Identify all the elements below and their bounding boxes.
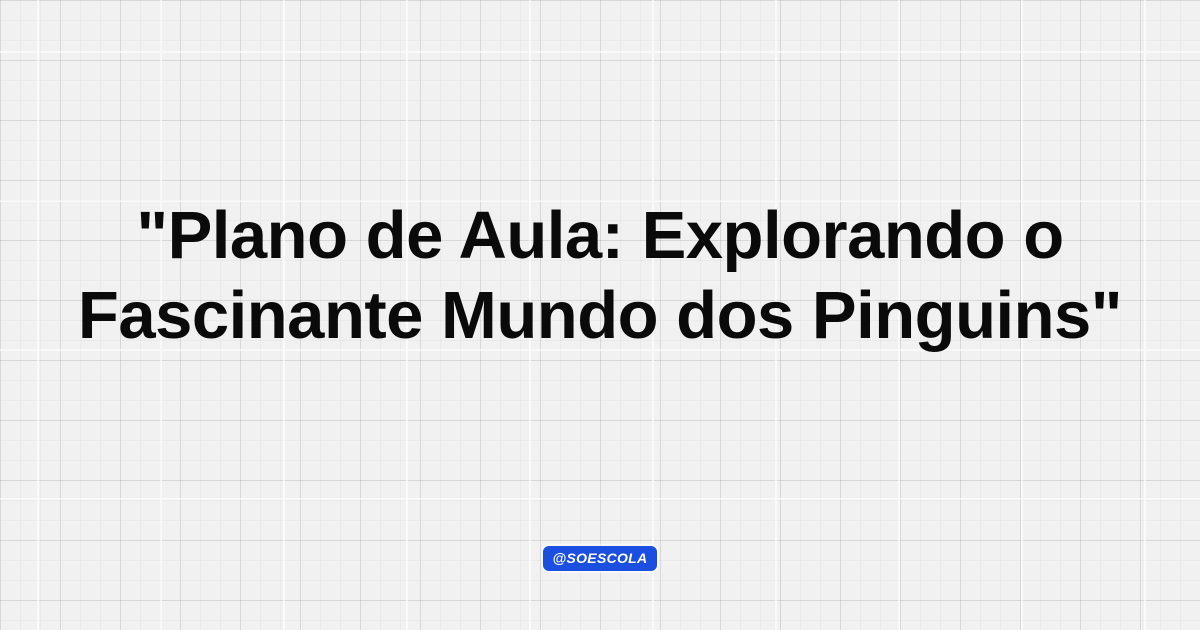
badge-row: @SOESCOLA: [0, 546, 1200, 571]
title-block: "Plano de Aula: Explorando o Fascinante …: [0, 196, 1200, 356]
page-title: "Plano de Aula: Explorando o Fascinante …: [40, 196, 1160, 356]
status-badge: @SOESCOLA: [543, 546, 658, 571]
title-card: "Plano de Aula: Explorando o Fascinante …: [0, 0, 1200, 630]
